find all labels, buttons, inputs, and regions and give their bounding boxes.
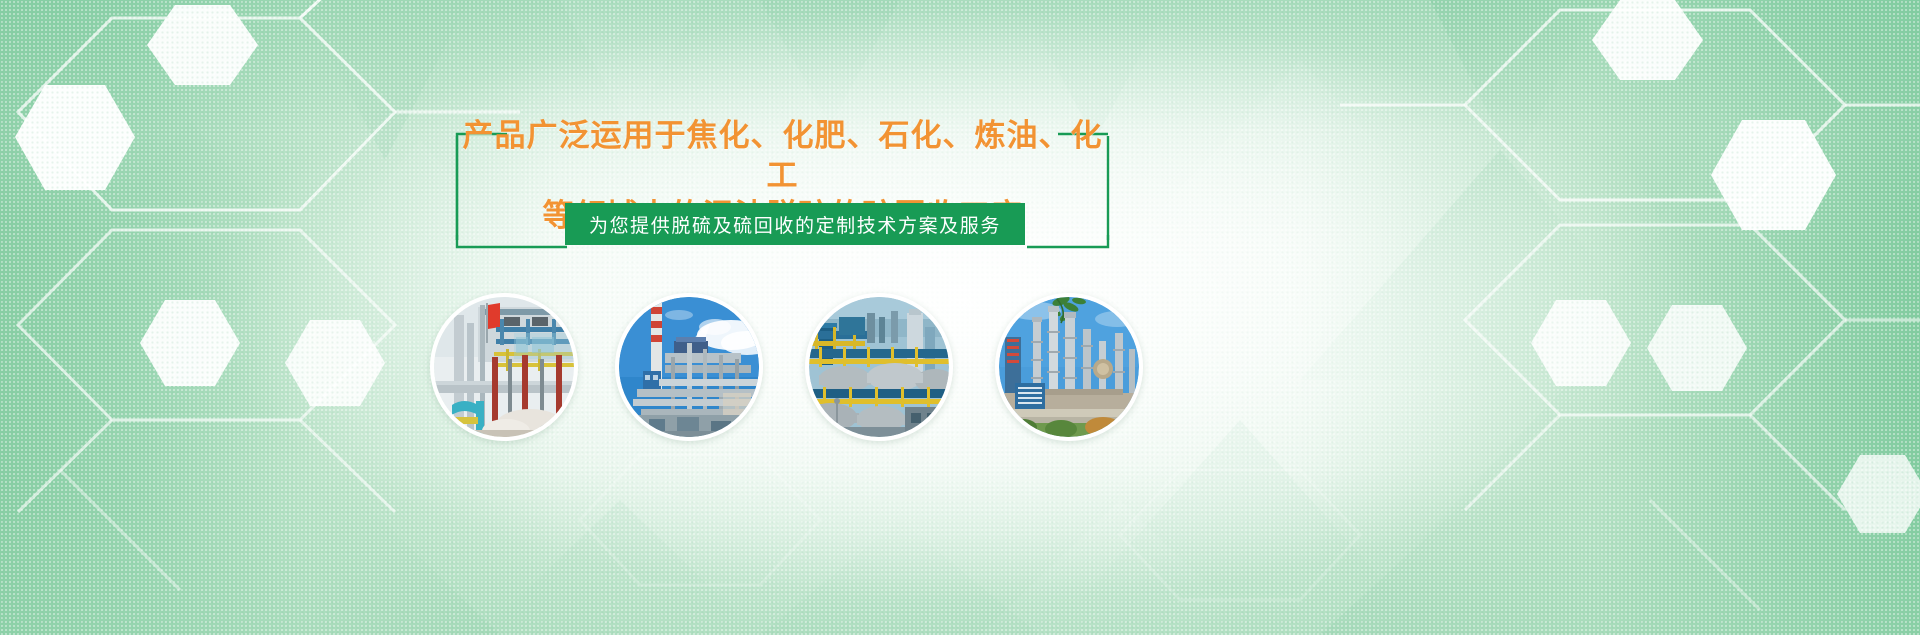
promo-banner: 产品广泛运用于焦化、化肥、石化、炼油、化工 等领域中的湿法脱硫的硫回收工序 为您… [0,0,1920,635]
sulfur-recovery-plant-image [434,297,574,437]
refinery-towers-image [999,297,1139,437]
photo-strip [420,293,1160,443]
photo-circle-4[interactable] [995,293,1143,441]
photo-circle-3[interactable] [805,293,953,441]
chemical-plant-chimney-image [619,297,759,437]
subtitle-bar: 为您提供脱硫及硫回收的定制技术方案及服务 [565,203,1025,245]
pressure-vessel-unit-image [809,297,949,437]
photo-circle-2[interactable] [615,293,763,441]
photo-circle-1[interactable] [430,293,578,441]
subtitle-text: 为您提供脱硫及硫回收的定制技术方案及服务 [589,211,1001,238]
headline-line-1: 产品广泛运用于焦化、化肥、石化、炼油、化工 [463,118,1103,193]
